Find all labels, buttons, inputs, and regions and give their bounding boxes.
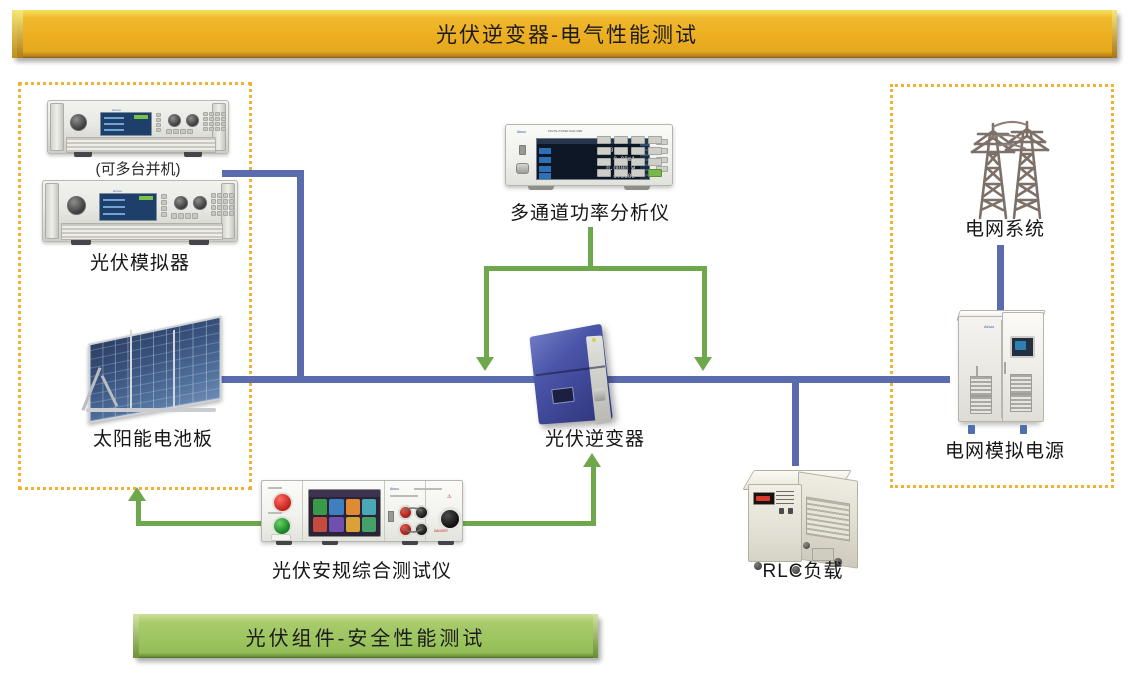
grid-system-label: 电网系统 bbox=[935, 214, 1075, 241]
rlc-panel-text bbox=[776, 491, 794, 504]
brand-label: Ainuo bbox=[390, 487, 399, 491]
rack-lcd-display bbox=[100, 112, 152, 136]
transmission-tower-icon bbox=[950, 100, 1060, 220]
rack-lcd-display bbox=[99, 193, 157, 221]
tester-touchscreen[interactable] bbox=[308, 489, 381, 537]
pv-simulator-label: 光伏模拟器 bbox=[40, 248, 240, 275]
rack-vent bbox=[61, 223, 223, 240]
tester-foot bbox=[276, 541, 292, 545]
tester-left-line bbox=[136, 521, 261, 526]
pv-simulator-unit-bottom[interactable]: Ainuo bbox=[42, 180, 238, 242]
grid-simulator[interactable]: Ainuo bbox=[958, 310, 1048, 428]
rack-ear-left bbox=[50, 103, 64, 151]
rlc-switch[interactable] bbox=[779, 508, 784, 514]
rack-side-keys[interactable] bbox=[161, 194, 167, 217]
inverter-display bbox=[551, 387, 575, 405]
fine-knob[interactable] bbox=[186, 114, 199, 127]
pv-simulator-stub-line bbox=[222, 170, 302, 177]
rack-function-keys[interactable] bbox=[171, 213, 198, 219]
tester-right-arrow-icon bbox=[583, 453, 601, 467]
rotary-knob[interactable] bbox=[67, 196, 86, 215]
rlc-led-display bbox=[753, 492, 775, 505]
cabinet-vent bbox=[1010, 394, 1032, 412]
analyzer-model-label: DIGITAL POWER ANALYZER bbox=[548, 130, 582, 133]
safety-tester-label: 光伏安规综合测试仪 bbox=[262, 556, 462, 583]
rack-foot-left bbox=[71, 240, 91, 245]
grid-link-line bbox=[997, 245, 1004, 317]
analyzer-stem-line bbox=[588, 227, 593, 268]
tester-right-riser-line bbox=[591, 466, 596, 523]
solar-panel[interactable] bbox=[78, 330, 228, 410]
brand-label: Ainuo bbox=[984, 324, 994, 329]
rlc-load-label: RLC负载 bbox=[718, 556, 888, 583]
coarse-knob[interactable] bbox=[174, 196, 188, 210]
start-button[interactable] bbox=[272, 516, 292, 536]
pv-inverter-label: 光伏逆变器 bbox=[500, 424, 690, 451]
tester-foot bbox=[322, 541, 338, 545]
analyzer-branch-line bbox=[484, 266, 707, 271]
tester-slot-label bbox=[268, 487, 282, 489]
solar-panel-divider bbox=[173, 330, 175, 408]
cabinet-caster bbox=[968, 425, 975, 434]
inverter-connector-port bbox=[593, 387, 606, 401]
cabinet-door-split bbox=[1001, 320, 1002, 418]
rlc-switch[interactable] bbox=[788, 508, 793, 514]
tester-panel-divider bbox=[384, 481, 385, 541]
rack-foot-right bbox=[184, 152, 202, 157]
pv-simulator-unit-top[interactable]: Ainuo bbox=[47, 100, 229, 154]
analyzer-left-arrow-icon bbox=[476, 357, 494, 371]
brand-label: Ainuo bbox=[517, 130, 526, 134]
bottom-title-banner: 光伏组件-安全性能测试 bbox=[133, 614, 598, 658]
grid-simulator-label: 电网模拟电源 bbox=[910, 436, 1100, 463]
analyzer-right-arrow-icon bbox=[694, 357, 712, 371]
rlc-vent bbox=[806, 497, 850, 542]
cabinet-vent bbox=[970, 396, 992, 414]
rack-side-keys[interactable] bbox=[156, 113, 161, 132]
rack-foot-left bbox=[74, 152, 92, 157]
tester-slot-label bbox=[268, 512, 282, 514]
analyzer-foot-left bbox=[528, 186, 554, 190]
cabinet-vent bbox=[970, 376, 992, 396]
touchscreen-icon-grid[interactable] bbox=[313, 499, 376, 532]
solar-panel-divider bbox=[130, 330, 132, 408]
power-switch[interactable] bbox=[519, 145, 526, 155]
analyzer-right-drop-line bbox=[702, 266, 707, 358]
high-voltage-warning-icon: ⚠ bbox=[447, 494, 451, 500]
cabinet-control-screen bbox=[1010, 336, 1035, 358]
grid-system-towers bbox=[950, 100, 1060, 220]
pv-inverter[interactable] bbox=[530, 330, 630, 430]
stop-button[interactable] bbox=[272, 492, 293, 513]
cabinet-caster bbox=[1020, 425, 1027, 434]
tester-model-strip bbox=[390, 495, 418, 497]
rotary-knob[interactable] bbox=[70, 114, 87, 131]
tester-model-strip bbox=[414, 488, 442, 490]
tester-right-line bbox=[463, 521, 596, 526]
terminal-link-wire bbox=[396, 503, 430, 537]
analyzer-left-drop-line bbox=[484, 266, 489, 358]
coarse-knob[interactable] bbox=[168, 114, 181, 127]
tester-foot bbox=[438, 541, 454, 545]
fine-knob[interactable] bbox=[193, 196, 207, 210]
solar-panel-label: 太阳能电池板 bbox=[58, 424, 248, 451]
pv-simulator-note: (可多台并机) bbox=[47, 158, 229, 179]
power-analyzer-label: 多通道功率分析仪 bbox=[490, 198, 690, 225]
rack-keypad[interactable] bbox=[203, 112, 226, 131]
tester-panel-divider bbox=[302, 481, 303, 541]
bottom-title-text: 光伏组件-安全性能测试 bbox=[246, 622, 486, 651]
tester-usb-port[interactable] bbox=[388, 511, 394, 522]
rack-foot-right bbox=[189, 240, 209, 245]
tester-foot bbox=[402, 541, 418, 545]
rlc-load[interactable] bbox=[748, 470, 863, 565]
solar-panel-base bbox=[86, 408, 216, 412]
tester-left-arrow-icon bbox=[128, 487, 146, 501]
tester-bottom-plate bbox=[271, 534, 291, 541]
rack-vent bbox=[66, 137, 216, 153]
high-voltage-text: DANGER bbox=[434, 529, 448, 533]
tester-left-riser-line bbox=[136, 500, 141, 523]
cabinet-vent bbox=[1010, 374, 1032, 394]
rack-ear-left bbox=[45, 183, 59, 239]
rack-keypad[interactable] bbox=[211, 193, 234, 216]
rlc-load-drop-line bbox=[792, 376, 799, 466]
top-title-banner: 光伏逆变器-电气性能测试 bbox=[12, 10, 1117, 58]
analyzer-foot-right bbox=[624, 186, 650, 190]
rack-function-keys[interactable] bbox=[166, 129, 193, 134]
top-title-text: 光伏逆变器-电气性能测试 bbox=[436, 19, 698, 49]
high-voltage-terminal[interactable] bbox=[438, 507, 462, 531]
analyzer-handle bbox=[516, 163, 529, 174]
rlc-knob[interactable] bbox=[803, 542, 810, 549]
analyzer-keypad[interactable] bbox=[597, 136, 662, 177]
safety-tester[interactable]: Ainuo ⚠ DANGER bbox=[261, 480, 463, 542]
cabinet-handle-right[interactable] bbox=[1004, 362, 1006, 374]
pv-simulator-drop-line bbox=[297, 170, 304, 380]
